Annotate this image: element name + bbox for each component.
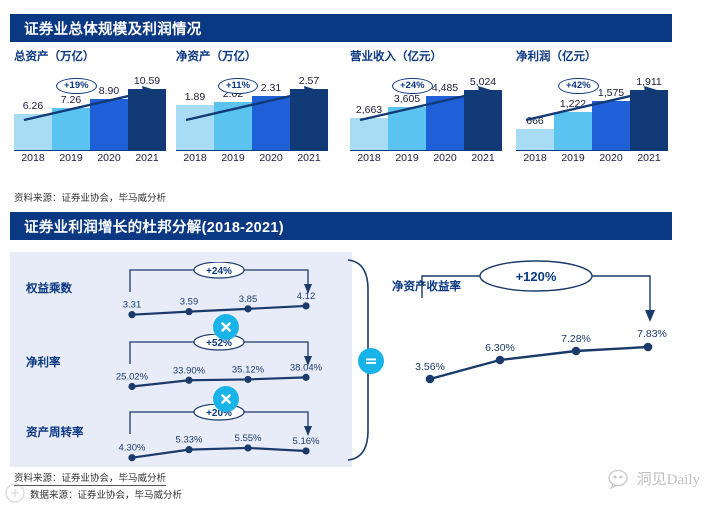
x-tick-label: 2018 — [350, 152, 388, 164]
data-point-label: 35.12% — [232, 364, 265, 375]
roe-line-chart: +120% 3.56% 6.30% 7.28% 7.83% — [360, 252, 714, 467]
data-point — [128, 383, 135, 390]
watermark-icon — [4, 482, 30, 504]
data-point-label: 5.55% — [235, 433, 262, 444]
dupont-row-label: 权益乘数 — [26, 280, 72, 296]
roe-value-2018: 3.56% — [415, 361, 445, 373]
x-tick-label: 2021 — [128, 152, 166, 164]
x-tick-label: 2020 — [426, 152, 464, 164]
x-tick-label: 2020 — [90, 152, 128, 164]
section-title: 证券业总体规模及利润情况 — [10, 18, 202, 39]
dupont-row-label: 资产周转率 — [26, 424, 84, 440]
x-tick-label: 2019 — [388, 152, 426, 164]
x-tick-label: 2021 — [464, 152, 502, 164]
roe-panel: 净资产收益率 +120% 3.56% 6.30% 7.28% 7.83% — [360, 252, 714, 467]
plot-area: 1.892.022.312.572018201920202021+11% — [176, 68, 328, 164]
data-point — [185, 377, 192, 384]
data-point-label: 5.33% — [176, 435, 203, 446]
data-point — [185, 308, 192, 315]
dupont-line-chart-3: +20%4.30%5.33%5.55%5.16% — [114, 404, 338, 466]
x-tick-label: 2021 — [290, 152, 328, 164]
chart-title: 净利润（亿元） — [516, 48, 597, 64]
data-point-label: 38.04% — [290, 362, 323, 373]
section-header-overview: 证券业总体规模及利润情况 — [10, 14, 672, 42]
x-tick-label: 2020 — [252, 152, 290, 164]
roe-value-2020: 7.28% — [561, 333, 591, 345]
x-tick-label: 2018 — [516, 152, 554, 164]
data-point — [302, 302, 309, 309]
data-point — [244, 376, 251, 383]
data-point-label: 3.85 — [239, 294, 258, 305]
data-point-label: 3.31 — [123, 300, 142, 311]
data-point-label: 25.02% — [116, 371, 149, 382]
x-axis — [516, 150, 668, 152]
bar-chart-group: 总资产（万亿）6.267.268.9010.592018201920202021… — [0, 48, 714, 188]
chart-title: 净资产（万亿） — [176, 48, 257, 64]
x-axis-labels: 2018201920202021 — [176, 152, 328, 164]
section-header-dupont: 证券业利润增长的杜邦分解(2018-2021) — [10, 212, 672, 240]
plot-area: 6661,2221,5751,9112018201920202021+42% — [516, 68, 668, 164]
x-tick-label: 2019 — [554, 152, 592, 164]
source-note-top: 资料来源：证券业协会，毕马威分析 — [14, 190, 166, 204]
logo-text: 洞见Daily — [637, 468, 700, 489]
growth-badge: +24% — [206, 266, 232, 277]
x-tick-label: 2019 — [214, 152, 252, 164]
x-axis — [176, 150, 328, 152]
bar-chart-4: 净利润（亿元）6661,2221,5751,911201820192020202… — [512, 48, 672, 188]
data-point-label: 5.16% — [293, 436, 320, 447]
dupont-row-label: 净利率 — [26, 354, 61, 370]
speech-bubble-icon — [605, 466, 631, 490]
chart-title: 营业收入（亿元） — [350, 48, 442, 64]
data-point — [128, 454, 135, 461]
bar-chart-1: 总资产（万亿）6.267.268.9010.592018201920202021… — [10, 48, 170, 188]
data-point-label: 4.30% — [119, 443, 146, 454]
bar-chart-3: 营业收入（亿元）2,6633,6054,4855,024201820192020… — [346, 48, 506, 188]
x-axis-labels: 2018201920202021 — [14, 152, 166, 164]
roe-value-2019: 6.30% — [485, 342, 515, 354]
bar — [516, 129, 554, 150]
source-note-bottom-1: 资料来源：证券业协会，毕马威分析 — [14, 470, 166, 486]
roe-value-2021: 7.83% — [637, 328, 667, 340]
brand-logo: 洞见Daily — [605, 466, 700, 490]
data-point — [302, 447, 309, 454]
x-tick-label: 2019 — [52, 152, 90, 164]
section-title: 证券业利润增长的杜邦分解(2018-2021) — [10, 216, 284, 237]
roe-growth-badge: +120% — [516, 269, 557, 284]
source-note-bottom-2: 数据来源：证券业协会，毕马威分析 — [30, 487, 182, 501]
plot-area: 2,6633,6054,4855,0242018201920202021+24% — [350, 68, 502, 164]
x-tick-label: 2020 — [592, 152, 630, 164]
multiply-operator-icon — [213, 314, 239, 340]
data-point — [185, 446, 192, 453]
data-point — [128, 311, 135, 318]
x-axis-labels: 2018201920202021 — [516, 152, 668, 164]
data-point — [302, 374, 309, 381]
plot-area: 6.267.268.9010.592018201920202021+19% — [14, 68, 166, 164]
x-tick-label: 2021 — [630, 152, 668, 164]
data-point-label: 33.90% — [173, 365, 206, 376]
multiply-operator-icon — [213, 386, 239, 412]
data-point-label: 3.59 — [180, 297, 199, 308]
data-point — [244, 305, 251, 312]
x-tick-label: 2018 — [176, 152, 214, 164]
x-axis — [350, 150, 502, 152]
x-axis — [14, 150, 166, 152]
data-point — [244, 444, 251, 451]
data-point-label: 4.12 — [297, 291, 316, 302]
x-tick-label: 2018 — [14, 152, 52, 164]
bar-chart-2: 净资产（万亿）1.892.022.312.572018201920202021+… — [172, 48, 332, 188]
dupont-panel: 权益乘数+24%3.313.593.854.12净利率+52%25.02%33.… — [10, 252, 352, 467]
x-axis-labels: 2018201920202021 — [350, 152, 502, 164]
equals-operator-icon — [358, 348, 384, 374]
chart-title: 总资产（万亿） — [14, 48, 95, 64]
